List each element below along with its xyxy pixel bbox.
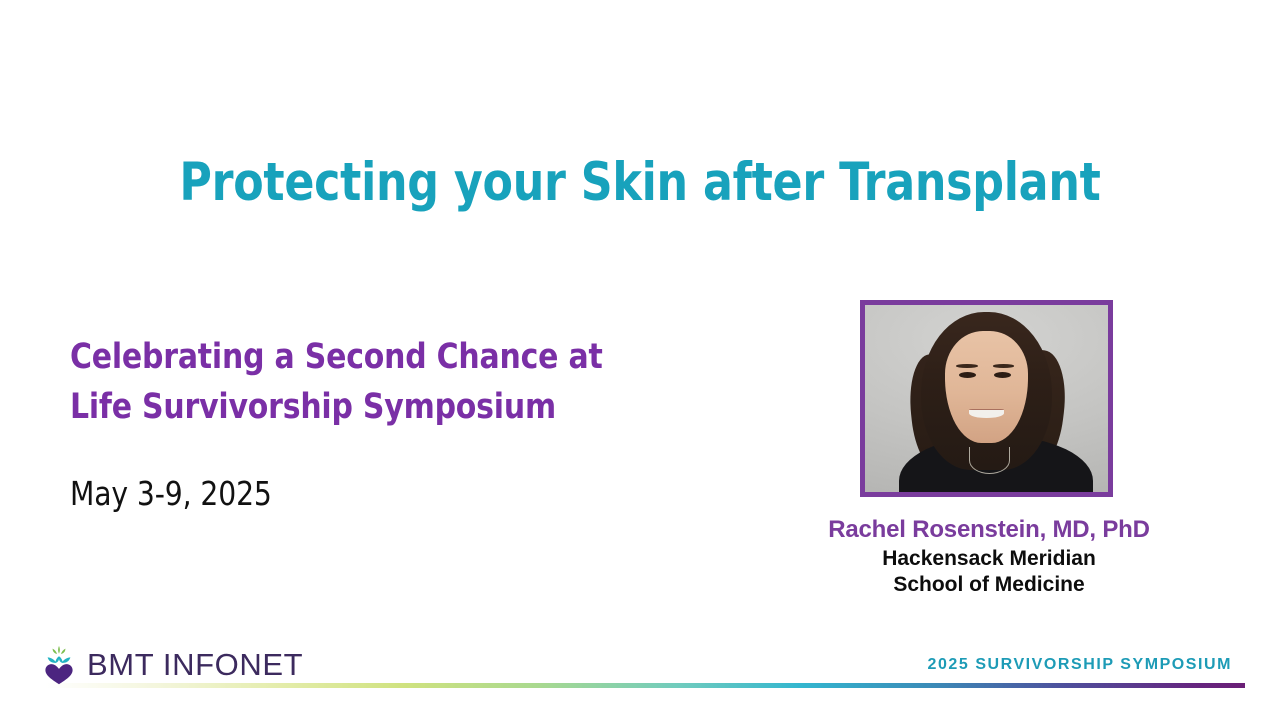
presentation-slide: Protecting your Skin after Transplant Ce… [0,0,1280,720]
event-date: May 3-9, 2025 [70,474,272,513]
event-name-line-2: Life Survivorship Symposium [70,382,678,432]
speaker-affiliation: Hackensack Meridian School of Medicine [760,546,1218,599]
bmt-infonet-logo: BMT INFONET [42,645,303,685]
sprout-heart-icon [42,645,76,685]
event-name: Celebrating a Second Chance at Life Surv… [70,332,678,432]
speaker-affiliation-line-2: School of Medicine [760,572,1218,598]
event-name-line-1: Celebrating a Second Chance at [70,332,678,382]
speaker-name: Rachel Rosenstein, MD, PhD [760,516,1218,544]
bmt-infonet-wordmark: BMT INFONET [87,647,303,683]
speaker-photo-image [865,305,1108,492]
page-title: Protecting your Skin after Transplant [45,154,1235,212]
speaker-affiliation-line-1: Hackensack Meridian [760,546,1218,572]
speaker-photo [860,300,1113,497]
eyebrow-left [956,364,978,368]
symposium-tag: 2025 SURVIVORSHIP SYMPOSIUM [928,656,1232,674]
face-shape [945,331,1028,443]
eyebrow-right [993,364,1015,368]
